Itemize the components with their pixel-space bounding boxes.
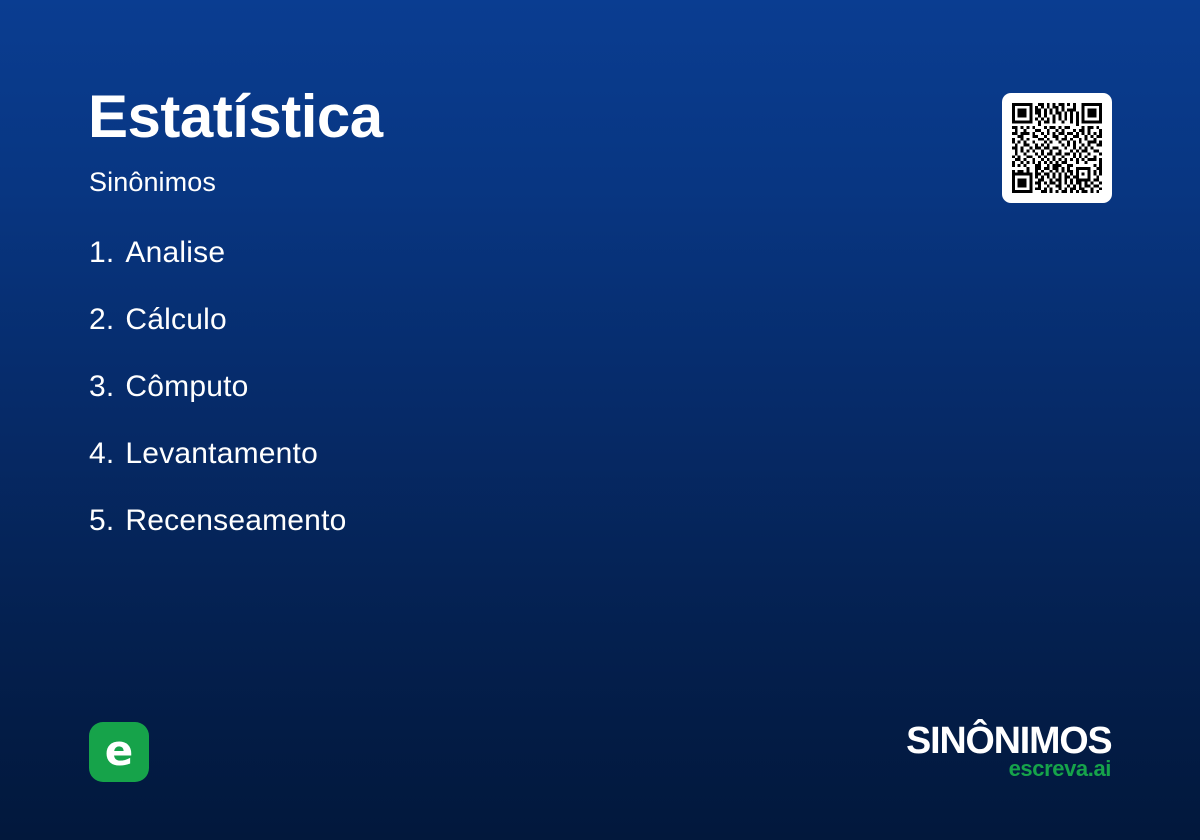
list-item-number: 2. [89,303,114,337]
qr-code-icon[interactable] [1002,93,1112,203]
brand-name: SINÔNIMOS [907,722,1112,760]
brand-domain: escreva.ai [1009,758,1111,780]
list-item-word: Levantamento [125,437,318,471]
app-logo-letter: e [105,730,134,772]
list-item: 5. Recenseamento [89,504,789,571]
page-subtitle: Sinônimos [89,167,216,198]
page-title: Estatística [88,85,383,148]
list-item-number: 4. [89,437,114,471]
synonym-card: Estatística Sinônimos 1. Analise 2. Cálc… [0,0,1200,840]
list-item-word: Cálculo [125,303,226,337]
list-item: 4. Levantamento [89,437,789,504]
list-item-number: 1. [89,236,114,270]
list-item-word: Cômputo [125,370,248,404]
list-item-number: 3. [89,370,114,404]
synonym-list: 1. Analise 2. Cálculo 3. Cômputo 4. Leva… [89,236,789,571]
list-item: 1. Analise [89,236,789,303]
app-logo-badge[interactable]: e [89,722,149,782]
list-item: 2. Cálculo [89,303,789,370]
list-item-number: 5. [89,504,114,538]
brand-logo: SINÔNIMOS escreva.ai [880,722,1112,784]
list-item-word: Recenseamento [125,504,346,538]
list-item: 3. Cômputo [89,370,789,437]
list-item-word: Analise [125,236,225,270]
